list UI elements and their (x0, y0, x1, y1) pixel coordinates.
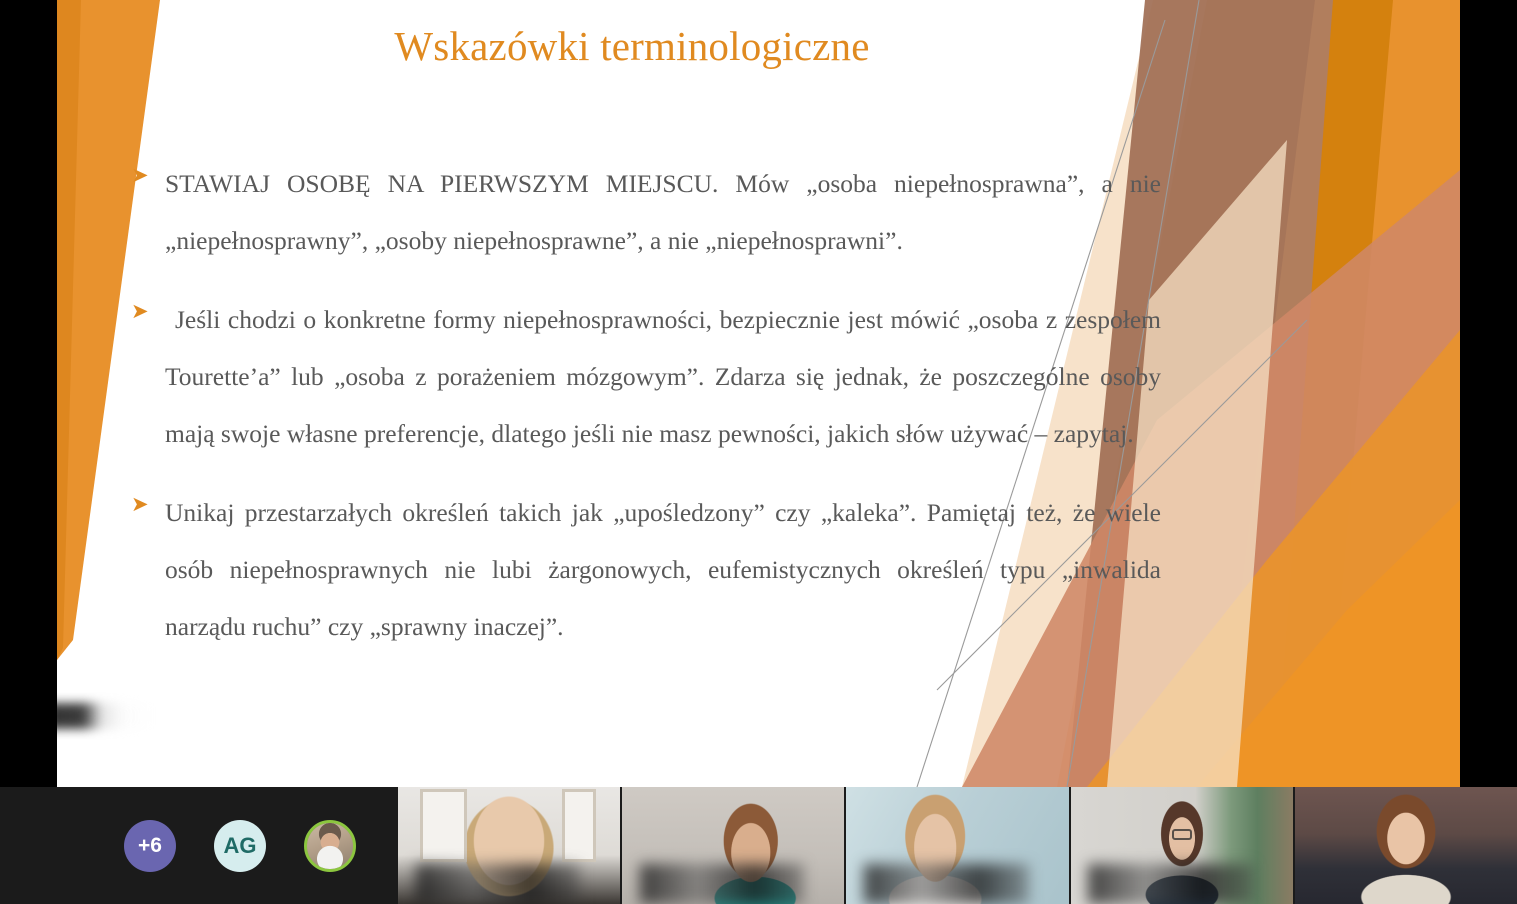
participant-name-label-blurred (1088, 864, 1252, 904)
avatar-initials-label: AG (224, 833, 257, 859)
arrow-bullet-icon: ➤ (131, 484, 165, 515)
bullet-list: ➤ STAWIAJ OSOBĘ NA PIERWSZYM MIEJSCU. Mó… (131, 155, 1161, 677)
blurred-overlay-badge (57, 703, 152, 729)
page-title: Wskazówki terminologiczne (57, 22, 1207, 70)
slide-body: Wskazówki terminologiczne ➤ STAWIAJ OSOB… (57, 0, 1460, 787)
arrow-bullet-icon: ➤ (131, 291, 165, 322)
participant-name-label-blurred (864, 864, 1028, 904)
video-tile-participant-4[interactable] (1069, 787, 1293, 904)
participant-name-label-blurred (640, 864, 804, 904)
arrow-bullet-icon: ➤ (131, 155, 165, 186)
video-tile-participant-3[interactable] (844, 787, 1068, 904)
list-item: ➤ Unikaj przestarzałych określeń takich … (131, 484, 1161, 655)
video-tile-participant-2[interactable] (620, 787, 844, 904)
wall-picture-frame-icon (420, 789, 467, 862)
avatar-strip: +6 AG (0, 787, 396, 904)
list-item: ➤ Jeśli chodzi o konkretne formy niepełn… (131, 291, 1161, 462)
shared-slide-stage[interactable]: Wskazówki terminologiczne ➤ STAWIAJ OSOB… (0, 0, 1517, 787)
video-feed (1295, 787, 1517, 904)
bullet-text-1: STAWIAJ OSOBĘ NA PIERWSZYM MIEJSCU. Mów … (165, 155, 1161, 269)
avatar-initials-ag[interactable]: AG (214, 820, 266, 872)
avatar-photo-active-speaker[interactable] (304, 820, 356, 872)
participant-filmstrip: +6 AG (0, 787, 1517, 904)
video-tile-participant-5[interactable] (1293, 787, 1517, 904)
meeting-screen-share-view: Wskazówki terminologiczne ➤ STAWIAJ OSOB… (0, 0, 1517, 904)
wall-picture-frame-icon (562, 789, 595, 862)
bullet-text-2: Jeśli chodzi o konkretne formy niepełnos… (165, 291, 1161, 462)
list-item: ➤ STAWIAJ OSOBĘ NA PIERWSZYM MIEJSCU. Mó… (131, 155, 1161, 269)
overflow-participants-avatar[interactable]: +6 (124, 820, 176, 872)
glasses-icon (1172, 829, 1192, 840)
participant-name-label-blurred (416, 864, 580, 904)
bullet-text-3: Unikaj przestarzałych określeń takich ja… (165, 484, 1161, 655)
video-tile-participant-1[interactable] (396, 787, 620, 904)
slide-canvas: Wskazówki terminologiczne ➤ STAWIAJ OSOB… (57, 0, 1460, 787)
avatar-photo-image (307, 823, 353, 869)
overflow-count-label: +6 (138, 834, 162, 858)
